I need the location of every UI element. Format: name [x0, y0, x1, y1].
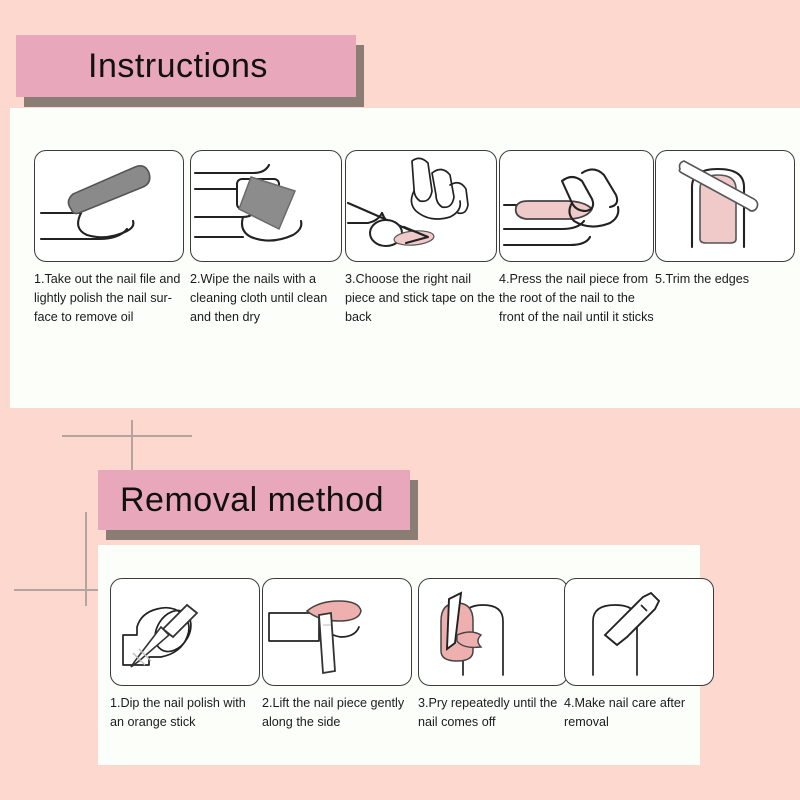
step-caption: 2.Wipe the nails with a cleaning cloth u… [190, 270, 342, 327]
step-caption: 4.Press the nail piece from the root of … [499, 270, 654, 327]
step-removal-1: 1.Dip the nail polish with an orange sti… [110, 578, 260, 732]
section-banner-removal: Removal method [98, 470, 410, 530]
tweezers-nail-piece-icon [345, 150, 497, 262]
step-removal-2: 2.Lift the nail piece gently along the s… [262, 578, 412, 732]
step-caption: 1.Dip the nail polish with an orange sti… [110, 694, 260, 732]
section-banner-instructions: Instructions [16, 35, 356, 97]
section-title-instructions: Instructions [16, 47, 268, 86]
step-caption: 2.Lift the nail piece gently along the s… [262, 694, 412, 732]
crosshair-vertical-line [131, 420, 133, 472]
lift-nail-piece-icon [262, 578, 412, 686]
crosshair-horizontal-line [62, 435, 192, 437]
section-title-removal: Removal method [98, 481, 384, 520]
pry-nail-off-icon [418, 578, 568, 686]
dip-polish-bottle-icon [110, 578, 260, 686]
nail-care-after-removal-icon [564, 578, 714, 686]
trim-edges-file-icon [655, 150, 795, 262]
nail-file-polishing-icon [34, 150, 184, 262]
banner-fill: Instructions [16, 35, 356, 97]
press-nail-piece-icon [499, 150, 654, 262]
step-caption: 3.Pry repeatedly until the nail comes of… [418, 694, 568, 732]
step-caption: 4.Make nail care after removal [564, 694, 714, 732]
step-instructions-2: 2.Wipe the nails with a cleaning cloth u… [190, 150, 342, 327]
step-instructions-3: 3.Choose the right nail piece and stick … [345, 150, 497, 327]
instruction-poster: Instructions 1.Take out the nail file an… [0, 0, 800, 800]
step-caption: 5.Trim the edges [655, 270, 795, 289]
step-instructions-4: 4.Press the nail piece from the root of … [499, 150, 654, 327]
step-removal-3: 3.Pry repeatedly until the nail comes of… [418, 578, 568, 732]
crosshair-decoration-upper [62, 400, 212, 472]
cleaning-cloth-wipe-icon [190, 150, 342, 262]
step-removal-4: 4.Make nail care after removal [564, 578, 714, 732]
step-caption: 1.Take out the nail file and lightly pol… [34, 270, 184, 327]
step-instructions-1: 1.Take out the nail file and lightly pol… [34, 150, 184, 327]
step-instructions-5: 5.Trim the edges [655, 150, 795, 289]
banner-fill: Removal method [98, 470, 410, 530]
crosshair-vertical-line [85, 512, 87, 606]
step-caption: 3.Choose the right nail piece and stick … [345, 270, 497, 327]
